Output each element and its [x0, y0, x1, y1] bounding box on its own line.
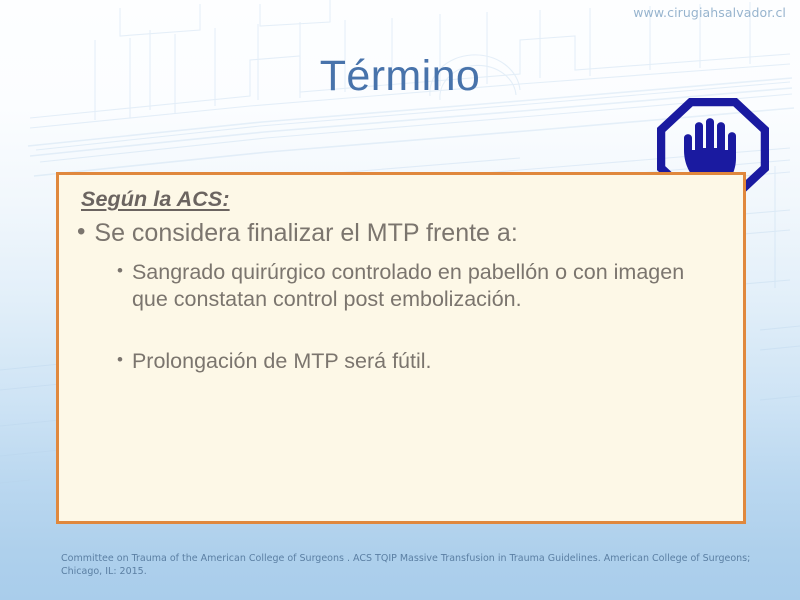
main-bullet: • Se considera finalizar el MTP frente a… — [77, 218, 727, 249]
page-title: Término — [0, 52, 800, 101]
main-bullet-text: Se considera finalizar el MTP frente a: — [94, 218, 517, 249]
bullet-marker: • — [77, 218, 85, 247]
bullet-marker: • — [117, 348, 123, 373]
sub-bullet-2: • Prolongación de MTP será fútil. — [117, 348, 717, 376]
footer-citation: Committee on Trauma of the American Coll… — [61, 553, 761, 579]
site-url-label: www.cirugiahsalvador.cl — [633, 5, 786, 20]
bullet-marker: • — [117, 259, 123, 284]
slide-canvas: www.cirugiahsalvador.cl Término Según la… — [0, 0, 800, 600]
sub-bullet-1-text: Sangrado quirúrgico controlado en pabell… — [132, 259, 717, 314]
sub-bullet-2-text: Prolongación de MTP será fútil. — [132, 348, 432, 376]
acs-heading: Según la ACS: — [81, 187, 727, 212]
sub-bullet-1: • Sangrado quirúrgico controlado en pabe… — [117, 259, 717, 314]
content-box: Según la ACS: • Se considera finalizar e… — [56, 172, 746, 524]
